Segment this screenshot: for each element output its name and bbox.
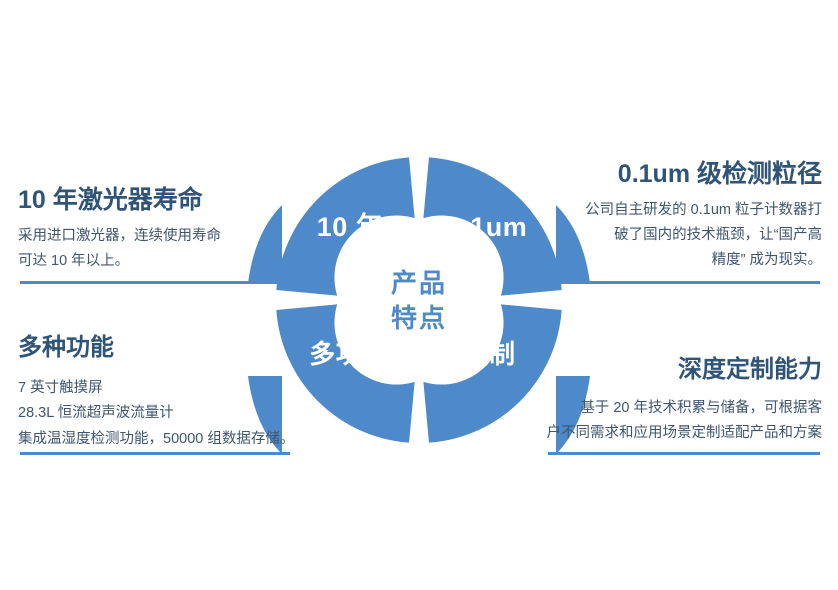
donut-center-line-1: 产品 [359,266,479,301]
feature-body-line: 公司自主研发的 0.1um 粒子计数器打 [552,198,822,223]
feature-body-particle-size: 公司自主研发的 0.1um 粒子计数器打 破了国内的技术瓶颈，让“国产高 精度”… [552,198,822,273]
feature-title-multifunction: 多种功能 [18,334,318,362]
donut-center-title: 产品 特点 [359,266,479,336]
feature-body-line: 破了国内的技术瓶颈，让“国产高 [552,223,822,248]
infographic-canvas: 10 年 0.1um 多功能 定制 产品 特点 10 年激光器寿命 采用进口激光… [0,0,838,590]
feature-title-laser-lifetime: 10 年激光器寿命 [18,186,286,215]
donut-label-years: 10 年 [294,214,406,241]
feature-block-multifunction: 多种功能 7 英寸触摸屏 28.3L 恒流超声波流量计 集成温湿度检测功能，50… [18,334,318,453]
feature-block-laser-lifetime: 10 年激光器寿命 采用进口激光器，连续使用寿命 可达 10 年以上。 [18,186,286,274]
feature-body-line: 7 英寸触摸屏 [18,376,318,402]
feature-body-line: 精度” 成为现实。 [552,248,822,273]
feature-body-line: 基于 20 年技术积累与储备，可根据客 [520,396,822,421]
feature-body-laser-lifetime: 采用进口激光器，连续使用寿命 可达 10 年以上。 [18,224,286,274]
feature-body-line: 28.3L 恒流超声波流量计 [18,401,318,427]
feature-body-customization: 基于 20 年技术积累与储备，可根据客 户不同需求和应用场景定制适配产品和方案 [520,396,822,446]
feature-block-particle-size: 0.1um 级检测粒径 公司自主研发的 0.1um 粒子计数器打 破了国内的技术… [552,160,822,273]
feature-body-multifunction: 7 英寸触摸屏 28.3L 恒流超声波流量计 集成温湿度检测功能，50000 组… [18,376,318,453]
feature-body-line: 可达 10 年以上。 [18,249,286,274]
feature-body-line: 集成温湿度检测功能，50000 组数据存储。 [18,427,318,453]
feature-title-customization: 深度定制能力 [520,356,822,384]
donut-center-line-2: 特点 [359,301,479,336]
feature-body-line: 采用进口激光器，连续使用寿命 [18,224,286,249]
feature-body-line: 户不同需求和应用场景定制适配产品和方案 [520,421,822,446]
feature-block-customization: 深度定制能力 基于 20 年技术积累与储备，可根据客 户不同需求和应用场景定制适… [520,356,822,445]
feature-title-particle-size: 0.1um 级检测粒径 [552,160,822,189]
donut-label-um: 0.1um [428,214,546,241]
